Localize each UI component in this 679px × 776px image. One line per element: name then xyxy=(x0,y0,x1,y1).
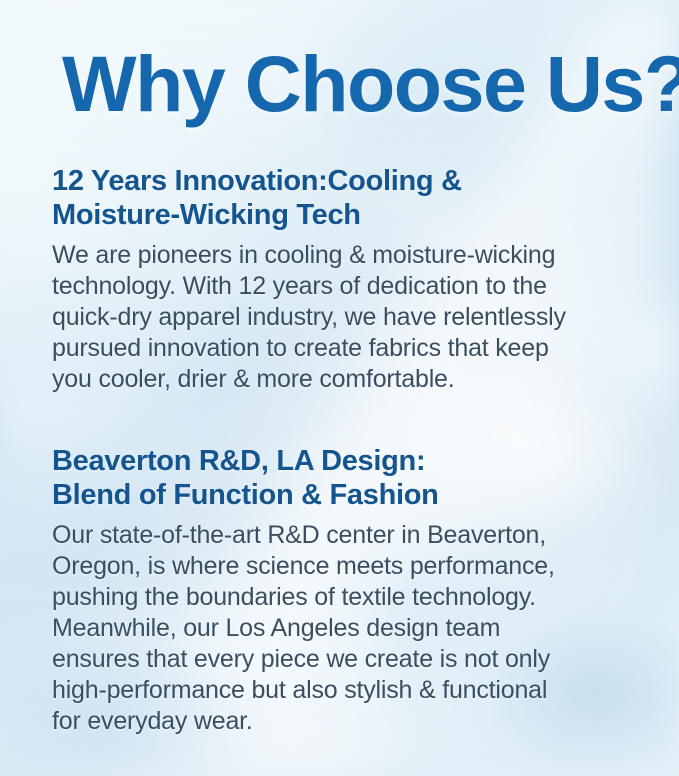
section-innovation-body: We are pioneers in cooling & moisture-wi… xyxy=(52,240,652,395)
heading-line: 12 Years Innovation:Cooling & xyxy=(52,164,652,198)
section-rnd-design-heading: Beaverton R&D, LA Design: Blend of Funct… xyxy=(52,444,652,512)
section-rnd-design: Beaverton R&D, LA Design: Blend of Funct… xyxy=(52,444,652,737)
heading-line: Blend of Function & Fashion xyxy=(52,478,652,512)
page-title: Why Choose Us? xyxy=(62,44,679,123)
body-line: pushing the boundaries of textile techno… xyxy=(52,582,652,613)
poster-content: Why Choose Us? 12 Years Innovation:Cooli… xyxy=(0,0,679,776)
body-line: high-performance but also stylish & func… xyxy=(52,675,652,706)
section-innovation: 12 Years Innovation:Cooling & Moisture-W… xyxy=(52,164,652,395)
body-line: Meanwhile, our Los Angeles design team xyxy=(52,613,652,644)
body-line: Our state-of-the-art R&D center in Beave… xyxy=(52,520,652,551)
section-rnd-design-body: Our state-of-the-art R&D center in Beave… xyxy=(52,520,652,737)
body-line: quick-dry apparel industry, we have rele… xyxy=(52,302,652,333)
section-innovation-heading: 12 Years Innovation:Cooling & Moisture-W… xyxy=(52,164,652,232)
heading-line: Beaverton R&D, LA Design: xyxy=(52,444,652,478)
body-line: technology. With 12 years of dedication … xyxy=(52,271,652,302)
body-line: for everyday wear. xyxy=(52,706,652,737)
body-line: ensures that every piece we create is no… xyxy=(52,644,652,675)
body-line: Oregon, is where science meets performan… xyxy=(52,551,652,582)
body-line: We are pioneers in cooling & moisture-wi… xyxy=(52,240,652,271)
body-line: you cooler, drier & more comfortable. xyxy=(52,364,652,395)
body-line: pursued innovation to create fabrics tha… xyxy=(52,333,652,364)
heading-line: Moisture-Wicking Tech xyxy=(52,198,652,232)
why-choose-us-poster: Why Choose Us? 12 Years Innovation:Cooli… xyxy=(0,0,679,776)
